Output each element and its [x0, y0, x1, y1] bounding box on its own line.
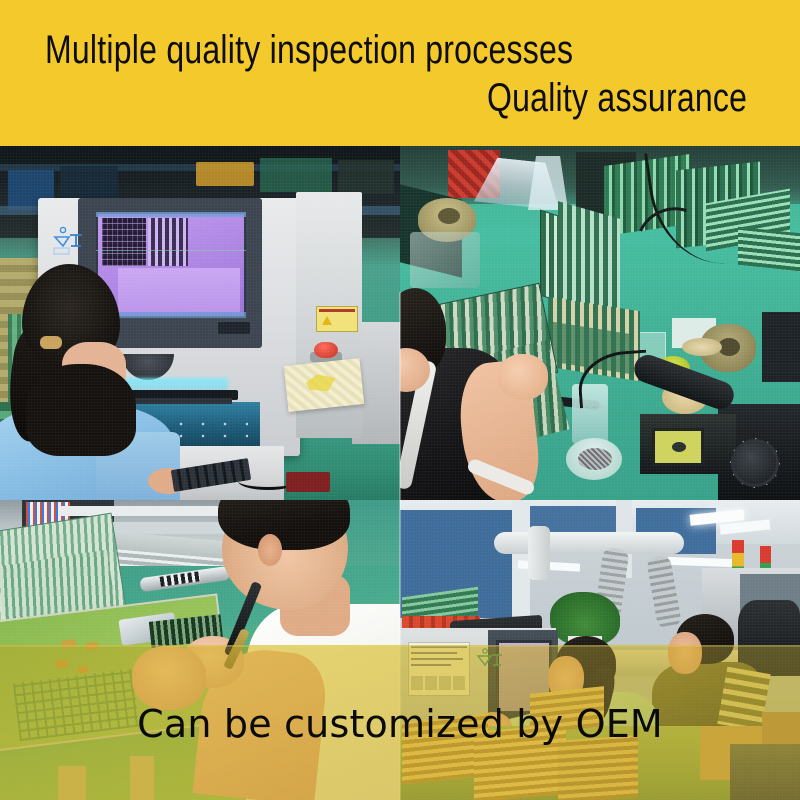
machine-brand-logo-icon: [52, 224, 86, 256]
header-banner: Multiple quality inspection processes Qu…: [0, 0, 800, 146]
oem-caption: Can be customized by OEM: [0, 700, 800, 748]
photo-manual-inspection: [0, 500, 400, 800]
assembly-operator: [400, 302, 550, 500]
grid-divider-horizontal: [0, 645, 800, 647]
operator-blue-coat: [0, 266, 148, 500]
photo-aoi-inspection: King-E9: [0, 146, 400, 500]
photo-pcb-assembly-bench: [400, 146, 800, 500]
temperature-knob[interactable]: [734, 442, 776, 484]
station-logo-icon: [476, 646, 504, 672]
emergency-stop-button[interactable]: [314, 342, 338, 358]
poster-canvas: Multiple quality inspection processes Qu…: [0, 0, 800, 800]
headline-primary: Multiple quality inspection processes: [45, 28, 573, 72]
photo-production-floor: [400, 500, 800, 800]
headline-secondary: Quality assurance: [487, 76, 747, 120]
